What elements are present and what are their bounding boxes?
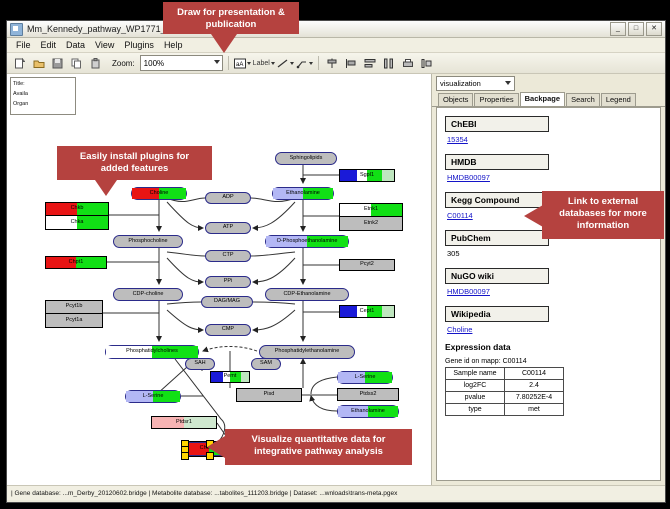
zoom-combobox[interactable]: 100% bbox=[140, 55, 223, 71]
db-link-hmdb[interactable]: HMDB00097 bbox=[447, 173, 652, 182]
pathway-node-l-serine-left[interactable]: L-Serine bbox=[125, 390, 181, 403]
node-label: L-Serine bbox=[355, 375, 376, 381]
pathvisio-icon bbox=[10, 23, 23, 36]
side-panel-tabs: Objects Properties Backpage Search Legen… bbox=[432, 92, 665, 107]
pathway-node-sam[interactable]: SAM bbox=[251, 358, 281, 370]
node-label: DAG/MAG bbox=[214, 299, 240, 305]
callout-plugins-arrow bbox=[95, 180, 117, 196]
callout-visualize: Visualize quantitative data for integrat… bbox=[225, 429, 412, 465]
copy-icon[interactable] bbox=[68, 55, 85, 72]
chevron-down-icon[interactable] bbox=[214, 60, 220, 64]
pathway-node-o-phosphoethanolamine[interactable]: O-Phosphoethanolamine bbox=[265, 235, 349, 248]
gene-group-row[interactable]: Etnk1 bbox=[340, 204, 402, 217]
node-label: L-Serine bbox=[143, 394, 164, 400]
callout-links: Link to external databases for more info… bbox=[542, 191, 664, 239]
expression-data-heading: Expression data bbox=[445, 342, 652, 352]
distribute-horizontal-icon[interactable] bbox=[381, 55, 398, 72]
group-icon[interactable] bbox=[419, 55, 436, 72]
toolbar-separator bbox=[318, 56, 319, 70]
gene-id-line: Gene id on mapp: C00114 bbox=[445, 358, 652, 365]
interaction-tool-icon[interactable] bbox=[296, 58, 313, 69]
pathway-node-pcyt2[interactable]: Pcyt2 bbox=[339, 259, 395, 271]
pathway-node-adp[interactable]: ADP bbox=[205, 192, 251, 204]
table-cell-key: Sample name bbox=[446, 368, 505, 380]
tab-properties[interactable]: Properties bbox=[474, 93, 518, 106]
tab-legend[interactable]: Legend bbox=[601, 93, 636, 106]
gene-group-chk-group[interactable]: ChkbChka bbox=[45, 202, 109, 230]
backpage-content[interactable]: ChEBI 15354 HMDB HMDB00097 Kegg Compound… bbox=[436, 107, 661, 481]
tab-objects[interactable]: Objects bbox=[438, 93, 473, 106]
gene-group-row[interactable]: Etnk2 bbox=[340, 217, 402, 230]
window-controls[interactable]: _ □ ✕ bbox=[610, 22, 662, 36]
paste-icon[interactable] bbox=[87, 55, 104, 72]
selection-handle[interactable] bbox=[181, 452, 189, 460]
expression-table: Sample nameC00114log2FC2.4pvalue7.80252E… bbox=[445, 367, 564, 416]
table-cell-value: met bbox=[505, 404, 564, 416]
node-label: Choline bbox=[150, 191, 169, 197]
table-row: pvalue7.80252E-4 bbox=[446, 392, 564, 404]
backpage-inner: ChEBI 15354 HMDB HMDB00097 Kegg Compound… bbox=[437, 108, 660, 422]
db-value-pubchem: 305 bbox=[447, 249, 652, 258]
tab-backpage[interactable]: Backpage bbox=[520, 92, 565, 106]
gene-group-row[interactable]: Chka bbox=[46, 216, 108, 229]
node-label: Cept1 bbox=[360, 309, 375, 315]
pathway-node-sphingolipids[interactable]: Sphingolipids bbox=[275, 152, 337, 165]
pathway-node-ctp[interactable]: CTP bbox=[205, 250, 251, 262]
pathway-canvas[interactable]: Title: Availa Organ bbox=[7, 74, 432, 485]
visualization-select[interactable]: visualization bbox=[436, 76, 515, 91]
db-link-wikipedia[interactable]: Choline bbox=[447, 325, 652, 334]
pathway-node-ethanolamine-bottom[interactable]: Ethanolamine bbox=[337, 405, 399, 418]
pathway-node-phosphocholine[interactable]: Phosphocholine bbox=[113, 235, 183, 248]
node-label: Ethanolamine bbox=[286, 191, 320, 197]
pathway-node-atp[interactable]: ATP bbox=[205, 222, 251, 234]
pathway-node-pemt[interactable]: Pemt bbox=[210, 371, 250, 383]
main-split: Title: Availa Organ bbox=[7, 74, 665, 485]
table-cell-value: C00114 bbox=[505, 368, 564, 380]
pathway-node-choline-top[interactable]: Choline bbox=[131, 187, 187, 200]
save-icon[interactable] bbox=[49, 55, 66, 72]
db-header-pubchem: PubChem bbox=[445, 230, 549, 246]
node-label: O-Phosphoethanolamine bbox=[277, 239, 338, 245]
callout-visualize-arrow bbox=[207, 436, 225, 458]
node-label: CTP bbox=[223, 253, 234, 259]
chevron-down-icon[interactable] bbox=[309, 62, 313, 65]
node-label: PPi bbox=[224, 279, 233, 285]
expression-table-body: Sample nameC00114log2FC2.4pvalue7.80252E… bbox=[446, 368, 564, 416]
pathway-node-sah[interactable]: SAH bbox=[185, 358, 215, 370]
close-button[interactable]: ✕ bbox=[646, 22, 662, 36]
table-cell-key: pvalue bbox=[446, 392, 505, 404]
menu-item-edit[interactable]: Edit bbox=[36, 40, 62, 50]
gene-group-etnk-group[interactable]: Etnk1Etnk2 bbox=[339, 203, 403, 231]
callout-links-arrow bbox=[524, 205, 543, 227]
side-panel: visualization Objects Properties Backpag… bbox=[432, 74, 665, 485]
table-row: log2FC2.4 bbox=[446, 380, 564, 392]
pathway-node-sgpl1[interactable]: Sgpl1 bbox=[339, 169, 395, 182]
db-link-nugo[interactable]: HMDB00097 bbox=[447, 287, 652, 296]
chevron-down-icon[interactable] bbox=[505, 81, 511, 85]
menu-item-file[interactable]: File bbox=[11, 40, 36, 50]
gene-group-row[interactable]: Pcyt1a bbox=[46, 314, 102, 327]
pathway-node-dagmag[interactable]: DAG/MAG bbox=[201, 296, 253, 308]
node-fill-segment bbox=[382, 306, 394, 317]
pathvisio-window: Mm_Kennedy_pathway_WP1771_45176.gpml _ □… bbox=[6, 20, 666, 503]
node-label: Chka bbox=[71, 220, 84, 226]
gene-group-row[interactable]: Chkb bbox=[46, 203, 108, 216]
chevron-down-icon[interactable] bbox=[271, 62, 275, 65]
db-link-chebi[interactable]: 15354 bbox=[447, 135, 652, 144]
label-tool-text: Label bbox=[253, 60, 270, 67]
chevron-down-icon[interactable] bbox=[247, 62, 251, 65]
align-center-icon[interactable] bbox=[324, 55, 341, 72]
node-fill-segment bbox=[382, 170, 394, 181]
toolbar-separator bbox=[228, 56, 229, 70]
table-row: typemet bbox=[446, 404, 564, 416]
node-label: Phosphocholine bbox=[128, 239, 167, 245]
callout-plugins: Easily install plugins for added feature… bbox=[57, 146, 212, 180]
pathway-node-ptdsr1[interactable]: Ptdsr1 bbox=[151, 416, 217, 429]
callout-draw: Draw for presentation & publication bbox=[163, 2, 299, 34]
node-fill-segment bbox=[340, 306, 357, 317]
db-header-chebi: ChEBI bbox=[445, 116, 549, 132]
node-label: Etnk2 bbox=[364, 221, 378, 227]
node-fill-segment bbox=[211, 372, 223, 382]
minimize-button[interactable]: _ bbox=[610, 22, 626, 36]
pathway-node-cept1[interactable]: Cept1 bbox=[339, 305, 395, 318]
node-label: Ptdsr1 bbox=[176, 420, 192, 426]
node-label: Chkb bbox=[71, 206, 84, 212]
node-label: CMP bbox=[222, 327, 234, 333]
menu-item-view[interactable]: View bbox=[90, 40, 119, 50]
node-label: SAM bbox=[260, 361, 272, 367]
maximize-button[interactable]: □ bbox=[628, 22, 644, 36]
menu-bar: File Edit Data View Plugins Help bbox=[7, 38, 665, 53]
menu-item-plugins[interactable]: Plugins bbox=[119, 40, 159, 50]
print-icon[interactable] bbox=[400, 55, 417, 72]
node-label: CDP-choline bbox=[133, 292, 164, 298]
svg-text:aA: aA bbox=[236, 62, 243, 68]
pathway-node-ppi[interactable]: PPi bbox=[205, 276, 251, 288]
node-label: ATP bbox=[223, 225, 233, 231]
node-label: Etnk1 bbox=[364, 207, 378, 213]
chevron-down-icon[interactable] bbox=[290, 62, 294, 65]
title-bar: Mm_Kennedy_pathway_WP1771_45176.gpml _ □… bbox=[7, 21, 665, 38]
pathway-node-ptdss2[interactable]: Ptdss2 bbox=[337, 388, 399, 401]
callout-draw-arrow bbox=[211, 34, 237, 53]
distribute-vertical-icon[interactable] bbox=[362, 55, 379, 72]
pathway-node-phosphatidylcholines[interactable]: Phosphatidylcholines bbox=[105, 345, 199, 359]
node-label: Pemt bbox=[224, 374, 237, 380]
pathway-node-chpt1[interactable]: Chpt1 bbox=[45, 256, 107, 269]
visualization-row: visualization bbox=[432, 74, 665, 92]
pathway-node-phosphatidylethanolamine[interactable]: Phosphatidylethanolamine bbox=[259, 345, 355, 359]
menu-item-help[interactable]: Help bbox=[159, 40, 188, 50]
node-label: Sphingolipids bbox=[290, 156, 323, 162]
db-header-nugo: NuGO wiki bbox=[445, 268, 549, 284]
table-cell-value: 2.4 bbox=[505, 380, 564, 392]
node-label: Ethanolamine bbox=[351, 409, 385, 415]
open-folder-icon[interactable] bbox=[30, 55, 47, 72]
node-label: CDP-Ethanolamine bbox=[283, 292, 330, 298]
table-row: Sample nameC00114 bbox=[446, 368, 564, 380]
node-label: Pisd bbox=[264, 392, 275, 398]
node-label: Sgpl1 bbox=[360, 173, 374, 179]
new-file-icon[interactable] bbox=[11, 55, 28, 72]
db-header-wikipedia: Wikipedia bbox=[445, 306, 549, 322]
zoom-label: Zoom: bbox=[112, 59, 135, 68]
toolbar: Zoom: 100% aA Label bbox=[7, 53, 665, 74]
text-tool-icon[interactable]: aA bbox=[234, 58, 251, 69]
table-cell-value: 7.80252E-4 bbox=[505, 392, 564, 404]
pathway-node-l-serine-right[interactable]: L-Serine bbox=[337, 371, 393, 384]
pathway-nodes: SphingolipidsCholineEthanolamineADPATPPh… bbox=[7, 74, 431, 485]
pathway-node-cdp-choline[interactable]: CDP-choline bbox=[113, 288, 183, 301]
pathway-node-ethanolamine[interactable]: Ethanolamine bbox=[272, 187, 334, 200]
pathway-node-cmp[interactable]: CMP bbox=[205, 324, 251, 336]
table-cell-key: log2FC bbox=[446, 380, 505, 392]
line-tool-icon[interactable] bbox=[277, 58, 294, 69]
pathway-node-cdp-ethanolamine[interactable]: CDP-Ethanolamine bbox=[265, 288, 349, 301]
menu-item-data[interactable]: Data bbox=[61, 40, 90, 50]
tab-search[interactable]: Search bbox=[566, 93, 600, 106]
node-label: Pcyt2 bbox=[360, 262, 374, 268]
node-label: Ptdss2 bbox=[360, 392, 377, 398]
align-left-icon[interactable] bbox=[343, 55, 360, 72]
node-label: Phosphatidylcholines bbox=[126, 349, 178, 355]
visualization-value: visualization bbox=[440, 79, 481, 88]
node-label: Chpt1 bbox=[69, 260, 84, 266]
gene-group-pcyt1-group[interactable]: Pcyt1bPcyt1a bbox=[45, 300, 103, 328]
node-fill-segment bbox=[340, 170, 357, 181]
gene-group-row[interactable]: Pcyt1b bbox=[46, 301, 102, 314]
node-label: Pcyt1b bbox=[66, 304, 83, 310]
zoom-value: 100% bbox=[144, 59, 164, 68]
table-cell-key: type bbox=[446, 404, 505, 416]
node-label: Pcyt1a bbox=[66, 318, 83, 324]
node-fill-segment bbox=[241, 372, 249, 382]
status-bar: | Gene database: ...m_Derby_20120602.bri… bbox=[7, 485, 665, 500]
db-header-hmdb: HMDB bbox=[445, 154, 549, 170]
label-tool-icon[interactable]: Label bbox=[253, 60, 275, 67]
status-text: | Gene database: ...m_Derby_20120602.bri… bbox=[11, 490, 397, 497]
pathway-node-pisd[interactable]: Pisd bbox=[236, 388, 302, 402]
node-label: SAH bbox=[194, 361, 205, 367]
node-label: Phosphatidylethanolamine bbox=[275, 349, 340, 355]
node-label: ADP bbox=[222, 195, 233, 201]
